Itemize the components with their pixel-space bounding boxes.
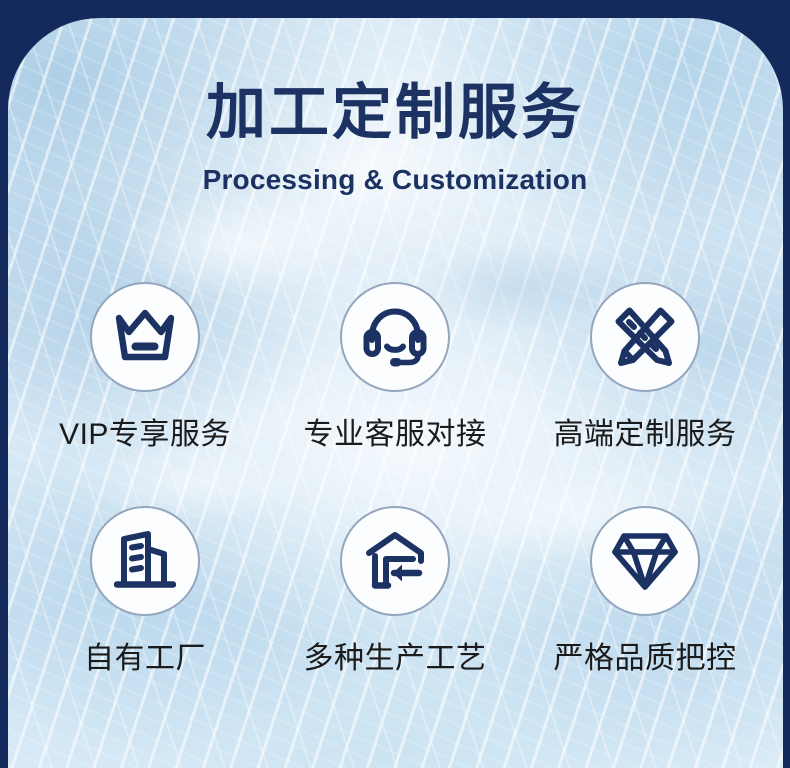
icon-badge (590, 282, 700, 392)
feature-item-custom-design[interactable]: 高端定制服务 (520, 282, 770, 453)
feature-label: 多种生产工艺 (304, 633, 487, 677)
pen-ruler-icon (613, 305, 677, 369)
feature-label: VIP专享服务 (59, 409, 231, 453)
icon-badge (90, 506, 200, 616)
page-subtitle: Processing & Customization (0, 164, 790, 196)
icon-badge (590, 506, 700, 616)
feature-label: 自有工厂 (84, 633, 206, 677)
factory-building-icon (114, 531, 176, 591)
feature-item-own-factory[interactable]: 自有工厂 (20, 506, 270, 677)
warehouse-arrow-icon (363, 531, 427, 591)
icon-badge (90, 282, 200, 392)
feature-label: 高端定制服务 (554, 409, 737, 453)
feature-item-customer-service[interactable]: 专业客服对接 (270, 282, 520, 453)
crown-icon (113, 308, 177, 366)
feature-label: 专业客服对接 (304, 409, 487, 453)
banner-header: 加工定制服务 Processing & Customization (0, 82, 790, 196)
icon-badge (340, 282, 450, 392)
icon-badge (340, 506, 450, 616)
feature-item-production-process[interactable]: 多种生产工艺 (270, 506, 520, 677)
feature-item-vip-service[interactable]: VIP专享服务 (20, 282, 270, 453)
feature-grid: VIP专享服务 专业客服对接 (0, 282, 790, 677)
headset-icon (363, 307, 427, 367)
feature-item-quality-control[interactable]: 严格品质把控 (520, 506, 770, 677)
diamond-icon (612, 532, 678, 590)
feature-row: 自有工厂 多种生产工艺 (0, 506, 790, 677)
page-title: 加工定制服务 (0, 82, 790, 143)
feature-label: 严格品质把控 (554, 633, 737, 677)
feature-row: VIP专享服务 专业客服对接 (0, 282, 790, 453)
promo-banner: 加工定制服务 Processing & Customization VIP专享服… (0, 0, 790, 768)
